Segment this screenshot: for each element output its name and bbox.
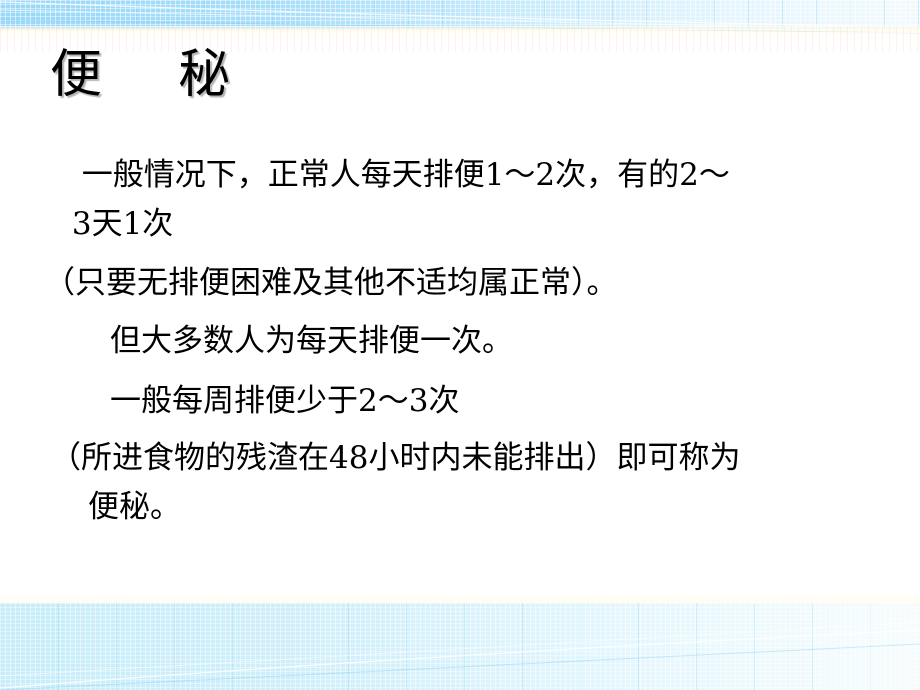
body-line-1: 一般情况下，正常人每天排便1～2次，有的2～ — [62, 160, 920, 191]
body-line-5: 一般每周排便少于2～3次 — [110, 386, 920, 417]
bottom-band-curve-lines — [0, 600, 920, 690]
body-line-3: （只要无排便困难及其他不适均属正常）。 — [44, 268, 920, 299]
body-line-7: 便秘。 — [88, 492, 920, 523]
slide-canvas: 便 秘 一般情况下，正常人每天排便1～2次，有的2～ 3天1次 （只要无排便困难… — [0, 0, 920, 690]
body-line-2: 3天1次 — [62, 209, 920, 240]
slide-body: 一般情况下，正常人每天排便1～2次，有的2～ 3天1次 （只要无排便困难及其他不… — [0, 160, 920, 523]
body-line-6: （所进食物的残渣在48小时内未能排出）即可称为 — [50, 443, 920, 474]
slide-title: 便 秘 — [50, 47, 232, 104]
body-line-4: 但大多数人为每天排便一次。 — [110, 326, 920, 357]
